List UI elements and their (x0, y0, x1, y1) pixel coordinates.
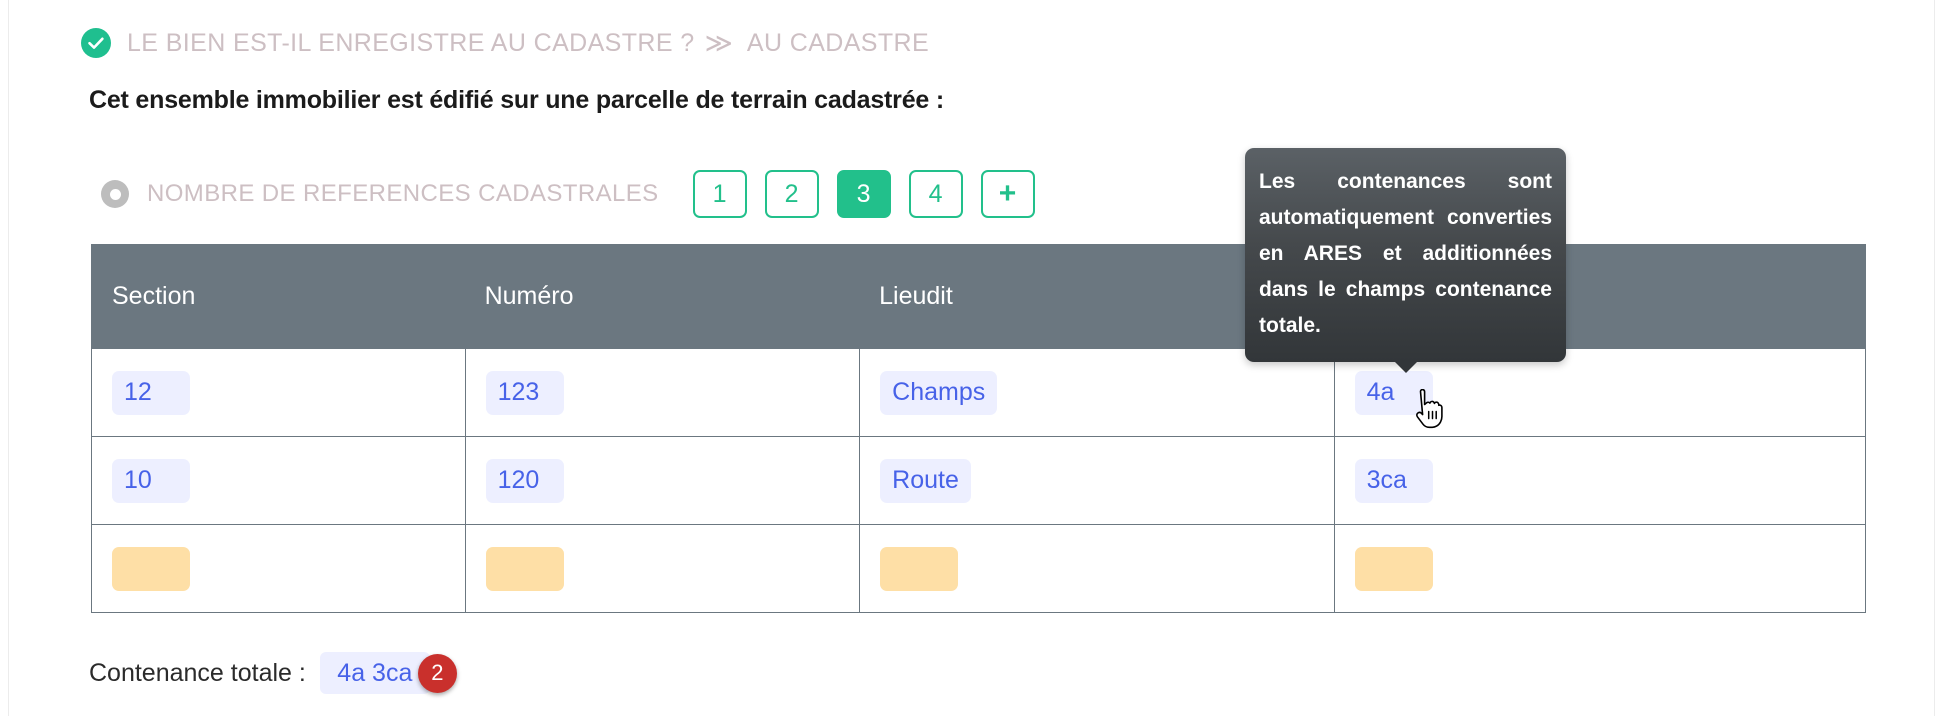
cell-lieudit: Champs (859, 349, 1333, 436)
lieudit-input[interactable] (880, 547, 958, 591)
cell-section: 12 (92, 349, 465, 436)
lieudit-input[interactable]: Champs (880, 371, 997, 415)
chevron-double-right-icon: ≫ (705, 30, 733, 57)
numero-input[interactable]: 120 (486, 459, 564, 503)
cell-numero: 120 (465, 437, 860, 524)
numero-input[interactable] (486, 547, 564, 591)
count-option-2[interactable]: 2 (765, 170, 819, 218)
contenance-input[interactable]: 3ca (1355, 459, 1433, 503)
section-input[interactable]: 12 (112, 371, 190, 415)
table-row: 10 120 Route 3ca (92, 436, 1865, 524)
cell-lieudit: Route (859, 437, 1333, 524)
section-input[interactable] (112, 547, 190, 591)
cell-section (92, 525, 465, 612)
breadcrumb-parent[interactable]: AU CADASTRE (747, 29, 929, 58)
table-header-row: Section Numéro Lieudit (92, 245, 1865, 348)
contenance-input[interactable]: 4a (1355, 371, 1433, 415)
tooltip-text: Les contenances sont automatiquement con… (1259, 170, 1552, 337)
cadastral-references-table: Section Numéro Lieudit 12 123 Champs 4a … (91, 244, 1866, 613)
form-card: LE BIEN EST-IL ENREGISTRE AU CADASTRE ? … (8, 0, 1935, 716)
cell-numero (465, 525, 860, 612)
total-area-row: Contenance totale : 4a 3ca 2 (89, 652, 457, 694)
section-input[interactable]: 10 (112, 459, 190, 503)
cell-lieudit (859, 525, 1333, 612)
cell-contenance: 3ca (1334, 437, 1865, 524)
reference-count-group: NOMBRE DE REFERENCES CADASTRALES 1 2 3 4… (101, 168, 1053, 220)
count-option-3[interactable]: 3 (837, 170, 891, 218)
lieudit-input[interactable]: Route (880, 459, 971, 503)
table-row: 12 123 Champs 4a (92, 348, 1865, 436)
count-option-4[interactable]: 4 (909, 170, 963, 218)
column-header-numero: Numéro (465, 245, 860, 348)
numero-input[interactable]: 123 (486, 371, 564, 415)
total-area-label: Contenance totale : (89, 659, 306, 688)
page-title: Cet ensemble immobilier est édifié sur u… (89, 86, 944, 115)
cell-contenance (1334, 525, 1865, 612)
breadcrumb: LE BIEN EST-IL ENREGISTRE AU CADASTRE ? … (81, 26, 929, 60)
total-area-input[interactable]: 4a 3ca (320, 652, 430, 694)
check-circle-icon (81, 28, 111, 58)
contenance-input[interactable] (1355, 547, 1433, 591)
status-badge: 2 (418, 654, 457, 693)
column-header-section: Section (92, 245, 465, 348)
table-row (92, 524, 1865, 612)
reference-count-label: NOMBRE DE REFERENCES CADASTRALES (147, 180, 659, 208)
radio-filled-icon (101, 180, 129, 208)
count-option-1[interactable]: 1 (693, 170, 747, 218)
cell-section: 10 (92, 437, 465, 524)
contenance-tooltip: Les contenances sont automatiquement con… (1245, 148, 1566, 362)
breadcrumb-current[interactable]: LE BIEN EST-IL ENREGISTRE AU CADASTRE ? (127, 29, 695, 58)
cell-numero: 123 (465, 349, 860, 436)
add-reference-button[interactable]: + (981, 170, 1035, 218)
tooltip-arrow-icon (1394, 361, 1418, 373)
